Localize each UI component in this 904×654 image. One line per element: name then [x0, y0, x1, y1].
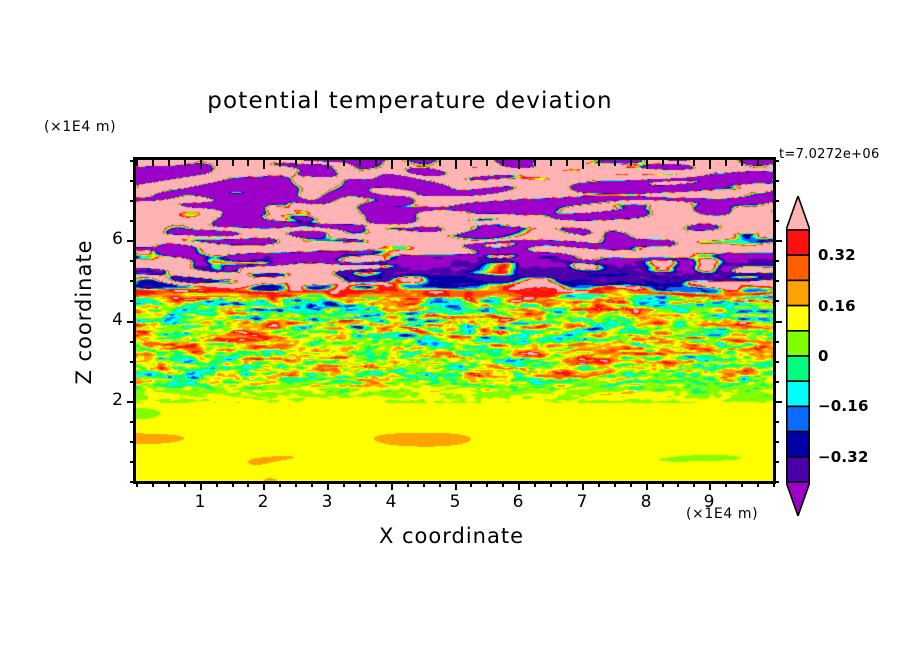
y-right-tick [773, 321, 782, 323]
x-minor-tick [566, 481, 568, 487]
y-minor-tick [130, 341, 136, 343]
colorbar-band [787, 230, 809, 255]
x-minor-tick [295, 481, 297, 487]
x-tick-label: 1 [180, 492, 220, 512]
x-minor-tick [247, 481, 249, 487]
x-minor-tick [598, 481, 600, 487]
x-minor-tick [152, 481, 154, 487]
x-minor-tick [614, 481, 616, 487]
x-minor-tick [168, 481, 170, 487]
x-minor-tick [423, 481, 425, 487]
x-top-tick [486, 160, 488, 166]
x-top-tick [709, 160, 711, 169]
x-minor-tick [534, 481, 536, 487]
x-tick-label: 2 [243, 492, 283, 512]
y-tick-label: 4 [93, 310, 123, 330]
x-top-tick [391, 160, 393, 169]
x-minor-tick [693, 481, 695, 487]
x-tick-6 [518, 481, 520, 490]
y-minor-tick [130, 180, 136, 182]
x-tick-2 [263, 481, 265, 490]
y-tick-label: 2 [93, 390, 123, 410]
y-right-tick [773, 481, 779, 483]
colorbar-band [787, 432, 809, 457]
x-minor-tick [757, 481, 759, 487]
y-right-tick [773, 200, 779, 202]
time-annotation: t=7.0272e+06 [779, 147, 880, 162]
y-tick-6 [127, 240, 136, 242]
x-top-tick [295, 160, 297, 166]
x-minor-tick [725, 481, 727, 487]
x-top-tick [502, 160, 504, 166]
z-axis-unit-label: (×1E4 m) [44, 119, 116, 135]
x-top-tick [773, 160, 775, 166]
x-top-tick [741, 160, 743, 166]
colorbar-tick-label: −0.16 [818, 397, 869, 415]
y-minor-tick [130, 361, 136, 363]
y-right-tick [773, 421, 779, 423]
y-right-tick [773, 240, 782, 242]
x-top-tick [168, 160, 170, 166]
y-minor-tick [130, 260, 136, 262]
y-minor-tick [130, 461, 136, 463]
x-top-tick [263, 160, 265, 169]
y-minor-tick [130, 441, 136, 443]
colorbar[interactable] [786, 196, 810, 516]
x-tick-label: 5 [435, 492, 475, 512]
x-top-tick [200, 160, 202, 169]
y-tick-label: 6 [93, 229, 123, 249]
x-top-tick [614, 160, 616, 166]
y-minor-tick [130, 381, 136, 383]
x-top-tick [216, 160, 218, 166]
x-tick-4 [391, 481, 393, 490]
page-title: potential temperature deviation [0, 88, 820, 114]
y-minor-tick [130, 421, 136, 423]
x-top-tick [232, 160, 234, 166]
colorbar-tick-label: 0 [818, 347, 829, 365]
x-top-tick [423, 160, 425, 166]
x-minor-tick [502, 481, 504, 487]
colorbar-band [787, 255, 809, 280]
x-top-tick [375, 160, 377, 166]
x-top-tick [470, 160, 472, 166]
x-tick-1 [200, 481, 202, 490]
x-minor-tick [439, 481, 441, 487]
x-top-tick [407, 160, 409, 166]
x-minor-tick [630, 481, 632, 487]
x-top-tick [598, 160, 600, 166]
x-minor-tick [343, 481, 345, 487]
x-tick-label: 4 [371, 492, 411, 512]
x-minor-tick [184, 481, 186, 487]
x-tick-label: 8 [626, 492, 666, 512]
colorbar-band [787, 306, 809, 331]
x-top-tick [582, 160, 584, 169]
y-minor-tick [130, 481, 136, 483]
x-tick-label: 7 [562, 492, 602, 512]
y-axis-title: Z coordinate [72, 212, 96, 412]
y-right-tick [773, 381, 779, 383]
x-tick-label: 6 [498, 492, 538, 512]
x-axis-unit-label: (×1E4 m) [686, 506, 758, 522]
x-minor-tick [232, 481, 234, 487]
colorbar-tick-label: 0.32 [818, 246, 856, 264]
x-top-tick [136, 160, 138, 166]
x-top-tick [343, 160, 345, 166]
y-right-tick [773, 341, 779, 343]
y-right-tick [773, 361, 779, 363]
x-tick-label: 3 [307, 492, 347, 512]
colorbar-band [787, 406, 809, 431]
x-tick-8 [646, 481, 648, 490]
colorbar-band [787, 457, 809, 482]
x-minor-tick [662, 481, 664, 487]
x-minor-tick [470, 481, 472, 487]
x-minor-tick [486, 481, 488, 487]
colorbar-tick-label: 0.16 [818, 297, 856, 315]
colorbar-band [787, 280, 809, 305]
y-right-tick [773, 401, 782, 403]
y-right-tick [773, 280, 779, 282]
x-minor-tick [136, 481, 138, 487]
colorbar-band [787, 331, 809, 356]
x-top-tick [677, 160, 679, 166]
y-minor-tick [130, 300, 136, 302]
x-minor-tick [311, 481, 313, 487]
x-top-tick [439, 160, 441, 166]
x-top-tick [311, 160, 313, 166]
y-right-tick [773, 180, 779, 182]
x-top-tick [646, 160, 648, 169]
colorbar-tick-label: −0.32 [818, 448, 869, 466]
figure-root: potential temperature deviation (×1E4 m)… [0, 0, 904, 654]
y-right-tick [773, 260, 779, 262]
x-minor-tick [407, 481, 409, 487]
x-top-tick [279, 160, 281, 166]
x-top-tick [152, 160, 154, 166]
x-tick-9 [709, 481, 711, 490]
x-minor-tick [279, 481, 281, 487]
x-top-tick [550, 160, 552, 166]
x-top-tick [725, 160, 727, 166]
x-top-tick [247, 160, 249, 166]
colorbar-band [787, 381, 809, 406]
y-right-tick [773, 441, 779, 443]
y-right-tick [773, 461, 779, 463]
x-top-tick [662, 160, 664, 166]
x-top-tick [359, 160, 361, 166]
x-axis-title: X coordinate [233, 524, 670, 548]
x-top-tick [566, 160, 568, 166]
x-tick-3 [327, 481, 329, 490]
x-tick-5 [455, 481, 457, 490]
contour-plot-area[interactable] [133, 157, 776, 484]
x-minor-tick [375, 481, 377, 487]
x-minor-tick [359, 481, 361, 487]
x-minor-tick [216, 481, 218, 487]
x-top-tick [534, 160, 536, 166]
y-minor-tick [130, 280, 136, 282]
x-top-tick [455, 160, 457, 169]
contour-field [136, 160, 773, 481]
y-tick-2 [127, 401, 136, 403]
x-minor-tick [677, 481, 679, 487]
x-top-tick [757, 160, 759, 166]
colorbar-band [787, 356, 809, 381]
y-minor-tick [130, 220, 136, 222]
colorbar-under-arrow [786, 482, 810, 516]
x-top-tick [327, 160, 329, 169]
x-top-tick [518, 160, 520, 169]
x-minor-tick [550, 481, 552, 487]
x-top-tick [630, 160, 632, 166]
x-tick-7 [582, 481, 584, 490]
y-right-tick [773, 220, 779, 222]
y-minor-tick [130, 200, 136, 202]
x-top-tick [693, 160, 695, 166]
y-tick-4 [127, 321, 136, 323]
x-top-tick [184, 160, 186, 166]
y-right-tick [773, 300, 779, 302]
colorbar-over-arrow [786, 196, 810, 230]
x-minor-tick [741, 481, 743, 487]
